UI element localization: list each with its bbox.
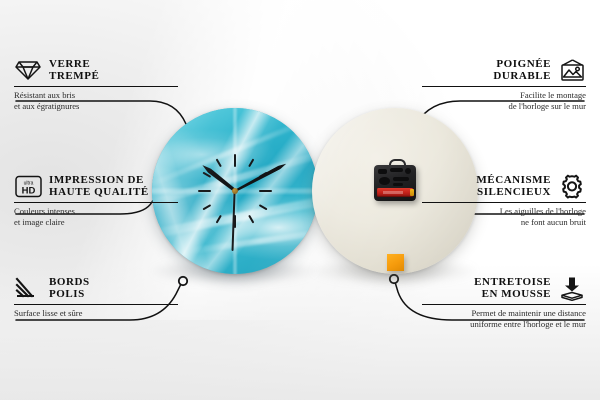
callout-poignee-durable: POIGNÉE DURABLE Facilite le montage de l… — [422, 56, 586, 112]
callout-mecanisme-silencieux: MÉCANISME SILENCIEUX Les aiguilles de l'… — [422, 172, 586, 228]
callout-description: Les aiguilles de l'horloge ne font aucun… — [422, 206, 586, 227]
callout-rule — [422, 202, 586, 203]
callout-impression-haute-qualite: ultra HD IMPRESSION DE HAUTE QUALITÉ Cou… — [14, 172, 178, 228]
aa-battery — [377, 188, 413, 197]
callout-description: Surface lisse et sûre — [14, 308, 178, 319]
product-infographic: VERRE TREMPÉ Résistant aux bris et aux é… — [0, 0, 600, 400]
callout-description: Résistant aux bris et aux égratignures — [14, 90, 178, 111]
callout-title: IMPRESSION DE HAUTE QUALITÉ — [49, 174, 149, 199]
press-down-pad-icon — [558, 274, 586, 302]
svg-text:HD: HD — [21, 185, 35, 196]
callout-description: Facilite le montage de l'horloge sur le … — [422, 90, 586, 111]
callout-rule — [14, 304, 178, 305]
callout-rule — [422, 86, 586, 87]
callout-rule — [422, 304, 586, 305]
gear-icon — [558, 172, 586, 200]
quartz-movement — [374, 159, 416, 201]
callout-bords-polis: BORDS POLIS Surface lisse et sûre — [14, 274, 178, 319]
callout-title: VERRE TREMPÉ — [49, 58, 99, 83]
battery-positive-terminal — [410, 189, 414, 196]
picture-hanger-icon — [558, 56, 586, 84]
callout-description: Couleurs intenses et image claire — [14, 206, 178, 227]
callout-verre-trempe: VERRE TREMPÉ Résistant aux bris et aux é… — [14, 56, 178, 112]
callout-title: MÉCANISME SILENCIEUX — [476, 174, 551, 199]
callout-title: BORDS POLIS — [49, 276, 90, 301]
foam-spacer — [387, 254, 404, 271]
callout-title: POIGNÉE DURABLE — [493, 58, 551, 83]
movement-housing — [374, 165, 416, 201]
ultra-hd-icon: ultra HD — [14, 172, 42, 200]
callout-rule — [14, 86, 178, 87]
callout-title: ENTRETOISE EN MOUSSE — [474, 276, 551, 301]
polished-edges-icon — [14, 274, 42, 302]
callout-description: Permet de maintenir une distance uniform… — [422, 308, 586, 329]
callout-rule — [14, 202, 178, 203]
diamond-icon — [14, 56, 42, 84]
callout-entretoise-en-mousse: ENTRETOISE EN MOUSSE Permet de maintenir… — [422, 274, 586, 330]
